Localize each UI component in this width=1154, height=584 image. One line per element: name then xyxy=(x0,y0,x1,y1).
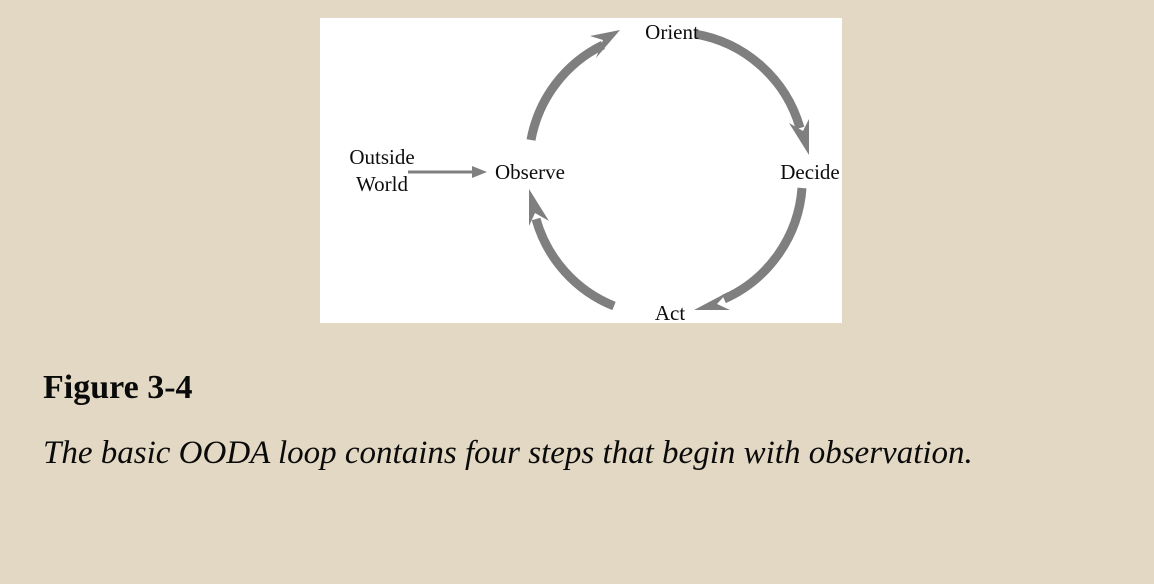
edge-orient-to-decide xyxy=(695,34,809,155)
figure-number: Figure 3-4 xyxy=(43,368,1113,408)
edge-act-to-observe xyxy=(529,189,614,306)
ooda-loop-diagram: Outside World Observe Orient Decide Act xyxy=(320,18,842,323)
edge-decide-to-act xyxy=(694,188,802,310)
node-label-observe: Observe xyxy=(495,160,565,184)
edge-observe-to-orient xyxy=(531,30,620,140)
edge-outside-world-to-observe xyxy=(408,166,487,178)
outside-world-label-line2: World xyxy=(356,172,408,196)
figure-image-panel: Outside World Observe Orient Decide Act xyxy=(320,18,842,323)
node-label-decide: Decide xyxy=(780,160,839,184)
node-label-orient: Orient xyxy=(645,20,699,44)
figure-caption-block: Figure 3-4 The basic OODA loop contains … xyxy=(43,368,1113,481)
figure-caption-text: The basic OODA loop contains four steps … xyxy=(43,426,1063,481)
outside-world-label-line1: Outside xyxy=(349,145,414,169)
node-label-act: Act xyxy=(655,301,685,323)
